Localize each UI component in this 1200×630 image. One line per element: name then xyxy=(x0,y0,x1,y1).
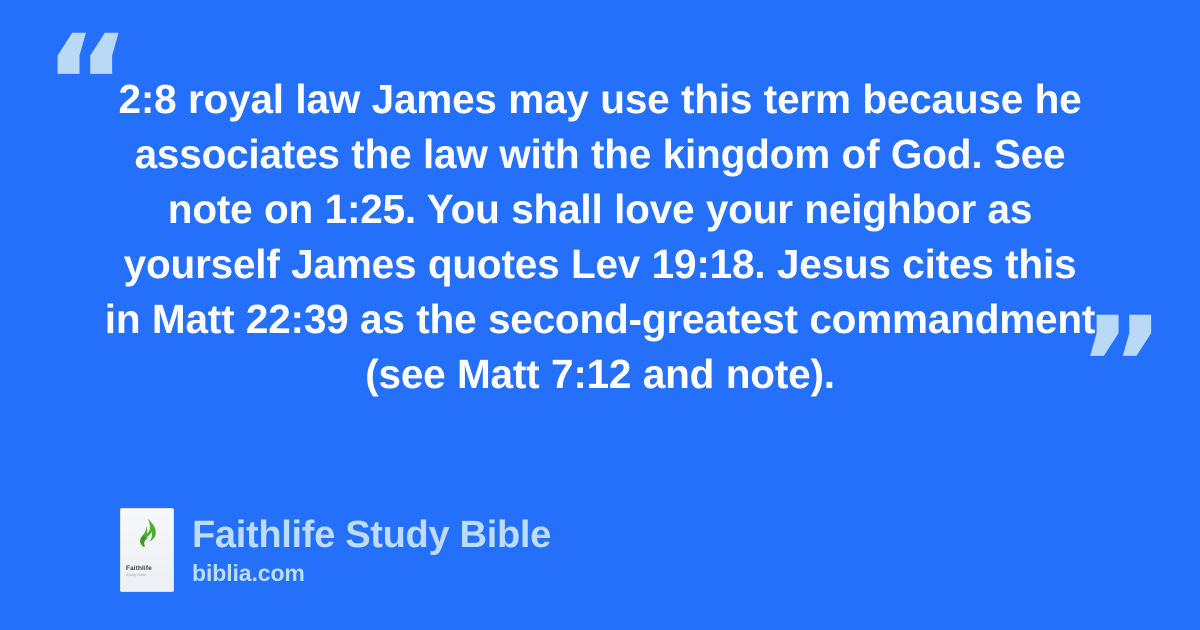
book-cover-caption: Faithlife Study Bible xyxy=(121,565,173,578)
book-cover-thumbnail: Faithlife Study Bible xyxy=(120,508,174,592)
brand-url[interactable]: biblia.com xyxy=(192,558,551,588)
quote-text: 2:8 royal law James may use this term be… xyxy=(104,72,1096,402)
closing-quote-icon: ” xyxy=(1078,300,1165,432)
quote-text-block: 2:8 royal law James may use this term be… xyxy=(104,72,1096,402)
book-cover-caption-subtitle: Study Bible xyxy=(126,573,173,578)
brand-title: Faithlife Study Bible xyxy=(192,513,551,557)
quote-card: “ 2:8 royal law James may use this term … xyxy=(0,0,1200,630)
brand-text-group: Faithlife Study Bible biblia.com xyxy=(192,513,551,588)
brand-footer[interactable]: Faithlife Study Bible Faithlife Study Bi… xyxy=(120,508,551,592)
book-cover-caption-title: Faithlife xyxy=(126,565,173,573)
faithlife-flame-icon xyxy=(134,518,160,548)
